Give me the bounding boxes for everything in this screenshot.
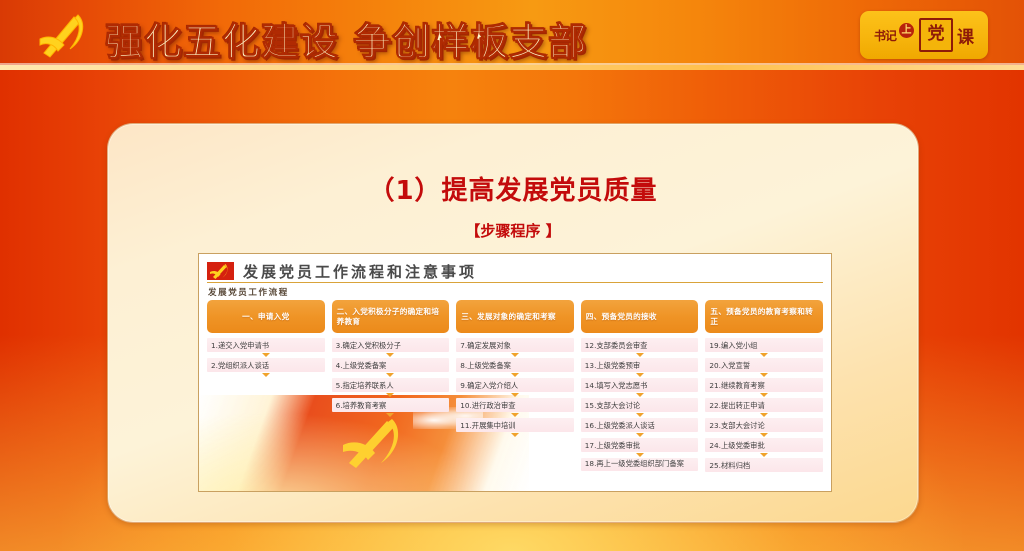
step-item: 22.提出转正申请 — [705, 398, 823, 412]
arrow-down-icon — [386, 373, 394, 377]
arrow-down-icon — [760, 353, 768, 357]
step-item: 15.支部大会讨论 — [581, 398, 699, 412]
badge-up-circle: 上 — [899, 23, 914, 38]
step-item: 25.材料归档 — [705, 458, 823, 472]
list-item: 10.进行政治审查 — [456, 398, 574, 418]
step-item: 4.上级党委备案 — [332, 358, 450, 372]
column-items-4: 12.支部委员会审查 13.上级党委预审 14.填写入党志愿书 — [581, 338, 699, 471]
arrow-down-icon — [262, 373, 270, 377]
list-item: 12.支部委员会审查 — [581, 338, 699, 358]
flowchart-header: 发展党员工作流程和注意事项 — [207, 260, 823, 283]
list-item: 17.上级党委审批 — [581, 438, 699, 458]
badge-left-text: 书记 — [874, 27, 896, 44]
list-item: 6.培养教育考察 — [332, 398, 450, 418]
column-items-3: 7.确定发展对象 8.上级党委备案 9.确定入党介绍人 — [456, 338, 574, 438]
list-item: 8.上级党委备案 — [456, 358, 574, 378]
step-item: 2.党组织派人谈话 — [207, 358, 325, 372]
flowchart-column-5: 五、预备党员的教育考察和转正 19.编入党小组 20.入党宣誓 — [705, 300, 823, 489]
column-items-1: 1.递交入党申请书 2.党组织派人谈话 — [207, 338, 325, 378]
step-item: 13.上级党委预审 — [581, 358, 699, 372]
arrow-down-icon — [760, 433, 768, 437]
step-item: 10.进行政治审查 — [456, 398, 574, 412]
step-item: 9.确定入党介绍人 — [456, 378, 574, 392]
flowchart-column-3: 三、发展对象的确定和考察 7.确定发展对象 8.上级党委备案 — [456, 300, 574, 489]
list-item: 11.开展集中培训 — [456, 418, 574, 438]
step-item: 8.上级党委备案 — [456, 358, 574, 372]
step-item: 1.递交入党申请书 — [207, 338, 325, 352]
list-item: 13.上级党委预审 — [581, 358, 699, 378]
flowchart-canvas: 发展党员工作流程和注意事项 发展党员工作流程 一、申请入党 1.递交入党申请书 — [199, 254, 831, 491]
list-item: 4.上级党委备案 — [332, 358, 450, 378]
step-item: 14.填写入党志愿书 — [581, 378, 699, 392]
flowchart-subtitle: 发展党员工作流程 — [208, 286, 289, 298]
flowchart-columns: 一、申请入党 1.递交入党申请书 2.党组织派人谈话 — [207, 300, 823, 489]
arrow-down-icon — [760, 453, 768, 457]
step-item: 11.开展集中培训 — [456, 418, 574, 432]
content-panel: （1）提高发展党员质量 【步骤程序 】 — [107, 123, 919, 523]
list-item: 1.递交入党申请书 — [207, 338, 325, 358]
party-flag-inner-icon — [207, 262, 234, 280]
badge-right-text: 课 — [957, 23, 974, 48]
hammer-sickle-emblem-icon — [34, 9, 92, 61]
step-item: 6.培养教育考察 — [332, 398, 450, 412]
arrow-down-icon — [636, 393, 644, 397]
flowchart-column-1: 一、申请入党 1.递交入党申请书 2.党组织派人谈话 — [207, 300, 325, 489]
list-item: 25.材料归档 — [705, 458, 823, 472]
list-item: 22.提出转正申请 — [705, 398, 823, 418]
step-item: 12.支部委员会审查 — [581, 338, 699, 352]
slide-subtitle: 【步骤程序 】 — [108, 220, 918, 241]
list-item: 19.编入党小组 — [705, 338, 823, 358]
step-item: 3.确定入党积极分子 — [332, 338, 450, 352]
arrow-down-icon — [262, 353, 270, 357]
column-header-5: 五、预备党员的教育考察和转正 — [705, 300, 823, 333]
list-item: 9.确定入党介绍人 — [456, 378, 574, 398]
list-item: 23.支部大会讨论 — [705, 418, 823, 438]
list-item: 7.确定发展对象 — [456, 338, 574, 358]
arrow-down-icon — [511, 353, 519, 357]
list-item: 3.确定入党积极分子 — [332, 338, 450, 358]
list-item: 15.支部大会讨论 — [581, 398, 699, 418]
step-item: 18.再上一级党委组织部门备案 — [581, 458, 699, 471]
arrow-down-icon — [760, 393, 768, 397]
slide-title: （1）提高发展党员质量 — [108, 170, 918, 207]
arrow-down-icon — [386, 413, 394, 417]
badge-seal-icon: 党 — [919, 18, 953, 52]
header-banner: 强化五化建设 争创样板支部 书记 上 党 课 — [0, 0, 1024, 70]
flowchart-image: 发展党员工作流程和注意事项 发展党员工作流程 一、申请入党 1.递交入党申请书 — [198, 253, 832, 492]
list-item: 20.入党宣誓 — [705, 358, 823, 378]
list-item: 21.继续教育考察 — [705, 378, 823, 398]
list-item: 18.再上一级党委组织部门备案 — [581, 458, 699, 471]
slide-root: 强化五化建设 争创样板支部 书记 上 党 课 （1）提高发展党员质量 【步骤程序… — [0, 0, 1024, 551]
arrow-down-icon — [636, 373, 644, 377]
column-header-2: 二、入党积极分子的确定和培养教育 — [332, 300, 450, 333]
flowchart-column-4: 四、预备党员的接收 12.支部委员会审查 13.上级党委预审 — [581, 300, 699, 489]
badge-shujiang-dangke[interactable]: 书记 上 党 课 — [860, 11, 988, 59]
step-item: 23.支部大会讨论 — [705, 418, 823, 432]
party-flag-icon — [207, 262, 234, 280]
arrow-down-icon — [760, 413, 768, 417]
column-header-3: 三、发展对象的确定和考察 — [456, 300, 574, 333]
step-item: 16.上级党委派人谈话 — [581, 418, 699, 432]
column-header-1: 一、申请入党 — [207, 300, 325, 333]
arrow-down-icon — [511, 373, 519, 377]
page-title: 强化五化建设 争创样板支部 — [105, 11, 587, 66]
list-item: 5.指定培养联系人 — [332, 378, 450, 398]
step-item: 20.入党宣誓 — [705, 358, 823, 372]
step-item: 5.指定培养联系人 — [332, 378, 450, 392]
list-item: 24.上级党委审批 — [705, 438, 823, 458]
step-item: 7.确定发展对象 — [456, 338, 574, 352]
arrow-down-icon — [760, 373, 768, 377]
arrow-down-icon — [511, 433, 519, 437]
column-items-5: 19.编入党小组 20.入党宣誓 21.继续教育考察 — [705, 338, 823, 472]
arrow-down-icon — [386, 353, 394, 357]
arrow-down-icon — [511, 393, 519, 397]
arrow-down-icon — [511, 413, 519, 417]
column-header-4: 四、预备党员的接收 — [581, 300, 699, 333]
arrow-down-icon — [636, 413, 644, 417]
arrow-down-icon — [386, 393, 394, 397]
step-item: 24.上级党委审批 — [705, 438, 823, 452]
arrow-down-icon — [636, 353, 644, 357]
flowchart-column-2: 二、入党积极分子的确定和培养教育 3.确定入党积极分子 4.上级党委备案 — [332, 300, 450, 489]
step-item: 19.编入党小组 — [705, 338, 823, 352]
step-item: 17.上级党委审批 — [581, 438, 699, 452]
list-item: 2.党组织派人谈话 — [207, 358, 325, 378]
arrow-down-icon — [636, 433, 644, 437]
flowchart-title: 发展党员工作流程和注意事项 — [243, 261, 477, 282]
column-items-2: 3.确定入党积极分子 4.上级党委备案 5.指定培养联系人 — [332, 338, 450, 418]
step-item: 21.继续教育考察 — [705, 378, 823, 392]
list-item: 16.上级党委派人谈话 — [581, 418, 699, 438]
list-item: 14.填写入党志愿书 — [581, 378, 699, 398]
arrow-down-icon — [636, 453, 644, 457]
